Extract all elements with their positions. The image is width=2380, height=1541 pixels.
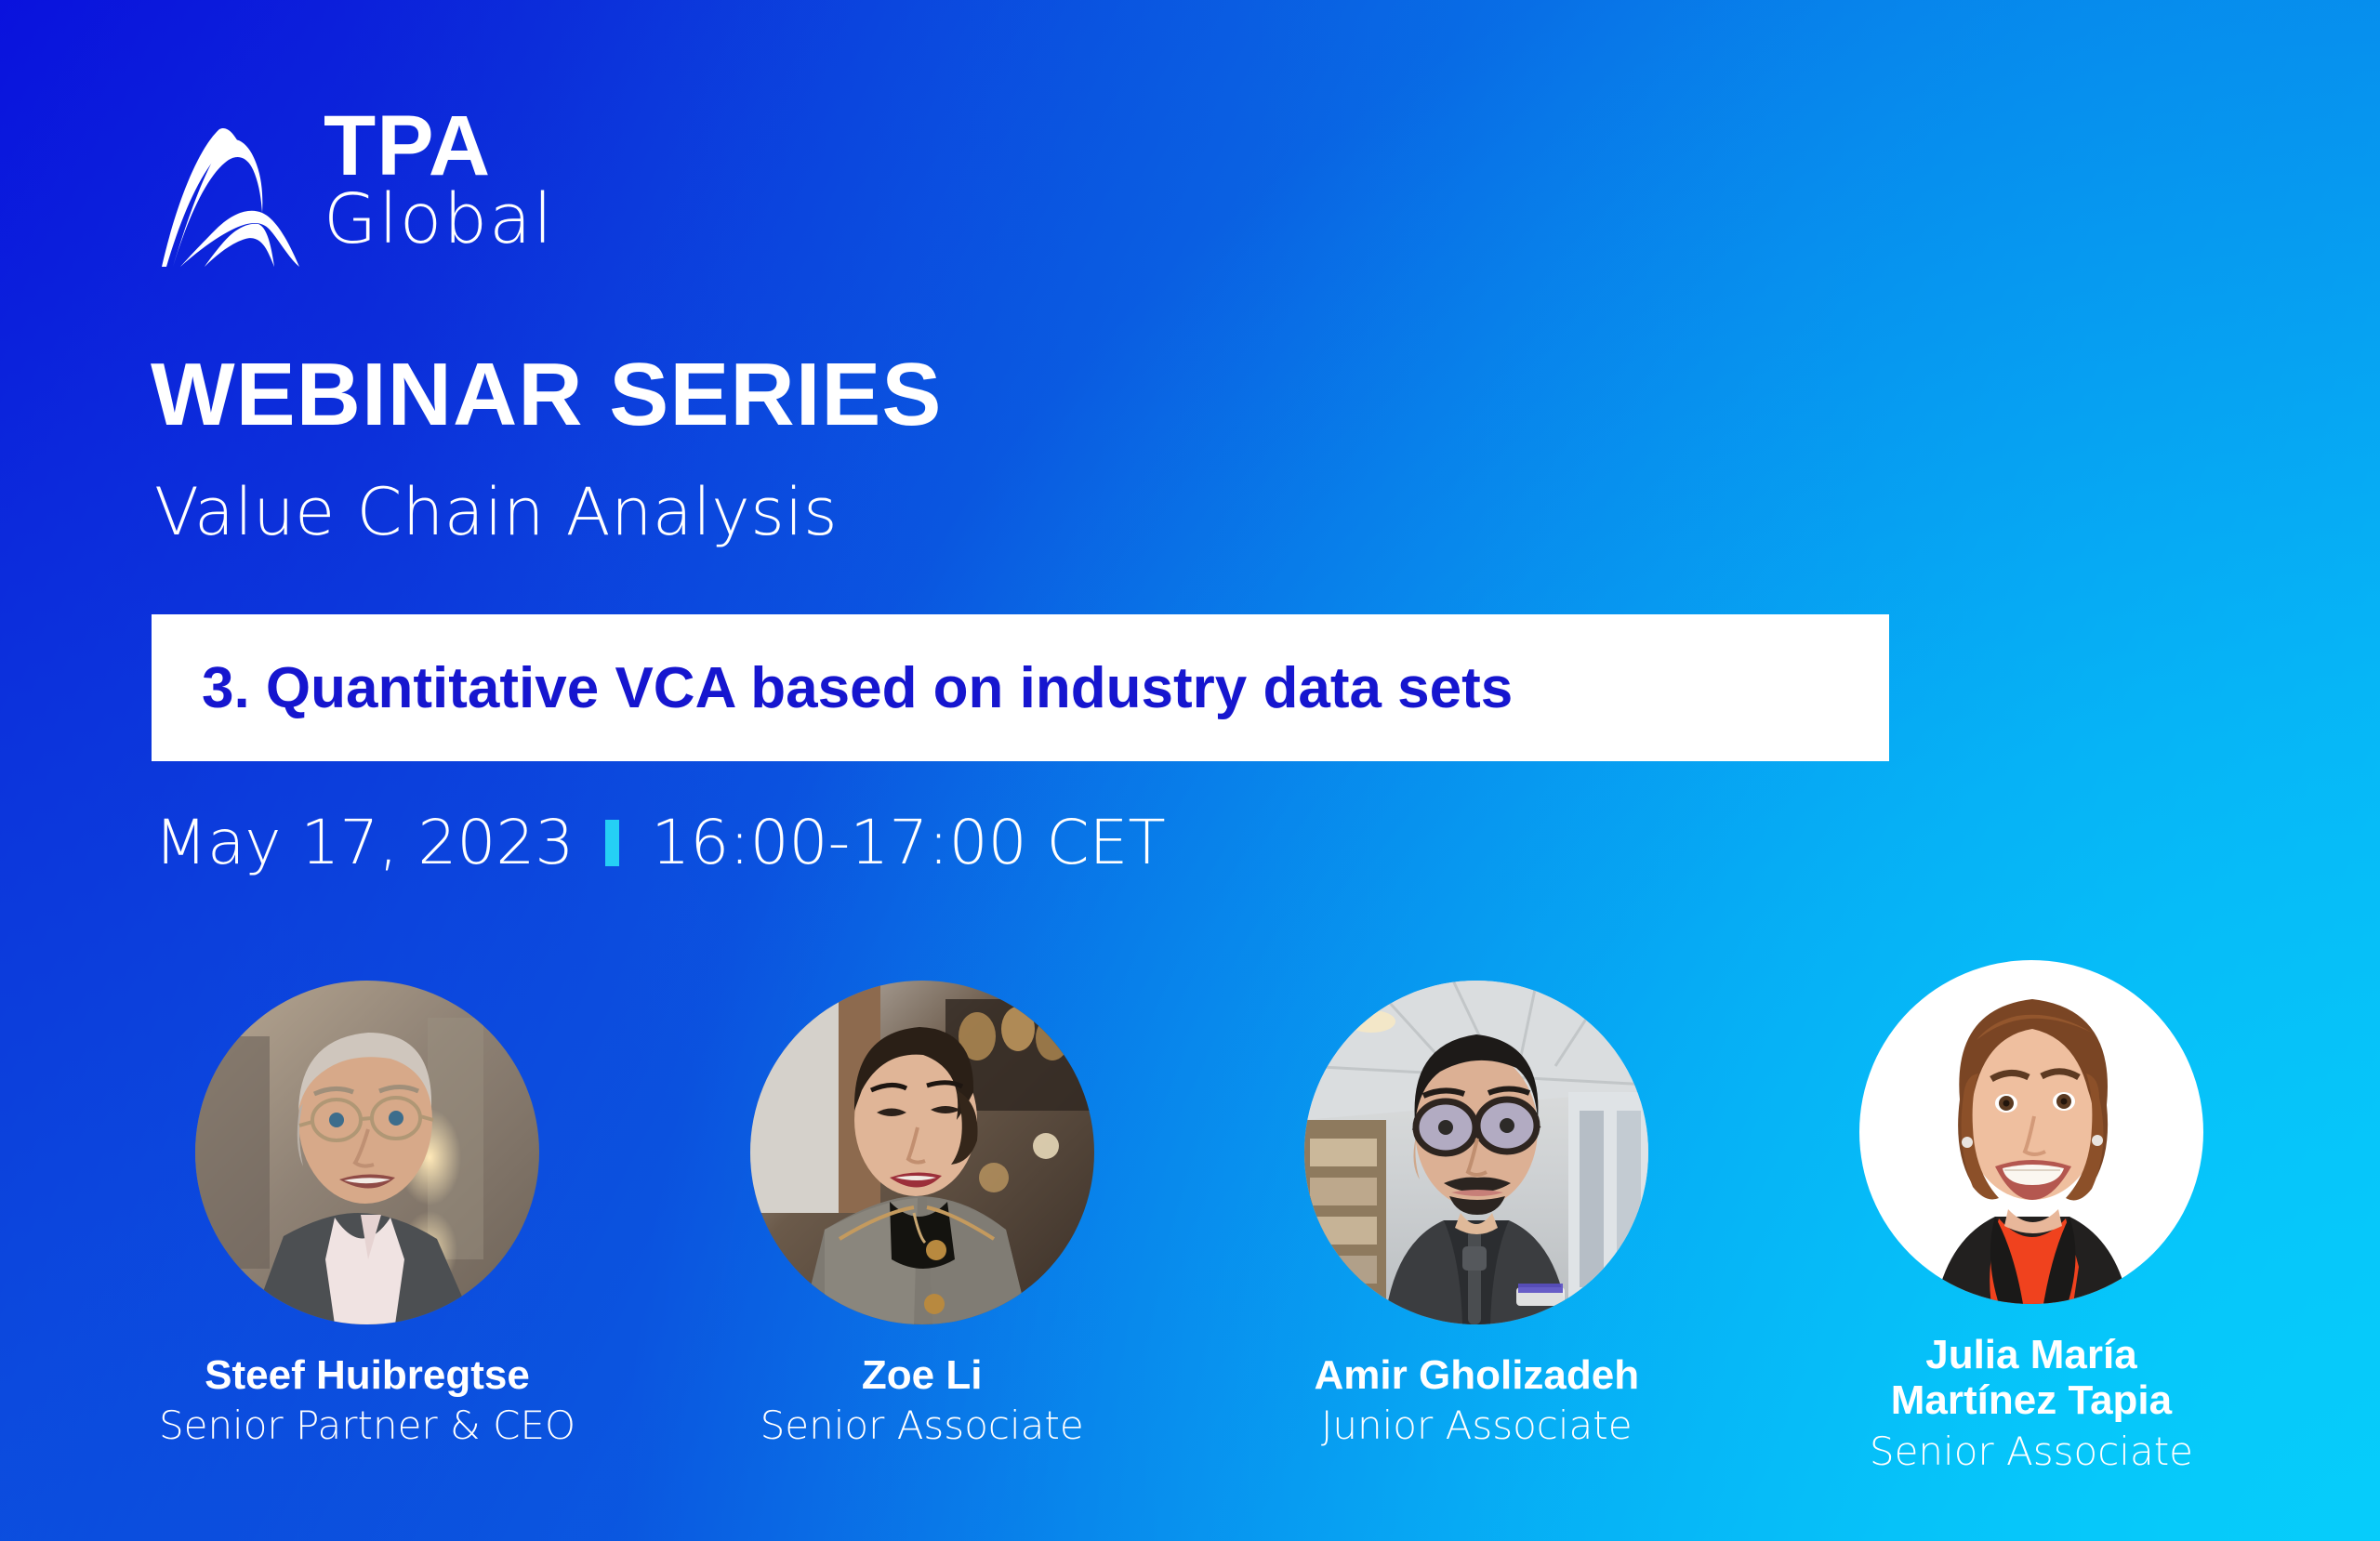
topic-banner-title: 3. Quantitative VCA based on industry da… [202,655,1513,721]
brand-name-secondary: Global [324,185,554,254]
speaker-name: Amir Gholizadeh [1315,1352,1640,1398]
webinar-date: May 17, 2023 [154,807,574,878]
speaker-card: Julia María Martínez Tapia Senior Associ… [1762,960,2301,1474]
webinar-time: 16:00-17:00 CET [651,807,1165,878]
schedule-row: May 17, 2023 16:00-17:00 CET [154,807,1166,878]
speaker-card: Zoe Li Senior Associate [653,981,1192,1449]
portrait-julia-maria-martinez-tapia [1859,960,2203,1304]
speaker-name: Zoe Li [862,1352,983,1398]
brand-logo: TPA Global [158,116,549,274]
brand-wordmark: TPA Global [324,103,554,254]
portrait-steef-huibregtse [195,981,539,1324]
brand-name-primary: TPA [324,103,554,191]
speaker-role: Senior Partner & CEO [159,1403,575,1448]
tpa-arch-logo-icon [158,127,307,269]
page-subtitle: Value Chain Analysis [154,474,838,550]
speaker-card: Steef Huibregtse Senior Partner & CEO [98,981,637,1449]
speaker-list: Steef Huibregtse Senior Partner & CEO [98,981,2301,1538]
page-title: WEBINAR SERIES [151,344,942,446]
schedule-separator-bar [605,820,619,866]
speaker-name: Steef Huibregtse [205,1352,530,1398]
portrait-zoe-li [750,981,1094,1324]
speaker-role: Junior Associate [1321,1403,1633,1448]
speaker-name: Julia María Martínez Tapia [1891,1332,2172,1424]
speaker-role: Senior Associate [760,1403,1084,1448]
speaker-role: Senior Associate [1870,1429,2193,1474]
portrait-amir-gholizadeh [1304,981,1648,1324]
topic-banner: 3. Quantitative VCA based on industry da… [152,614,1889,761]
speaker-card: Amir Gholizadeh Junior Associate [1207,981,1746,1449]
